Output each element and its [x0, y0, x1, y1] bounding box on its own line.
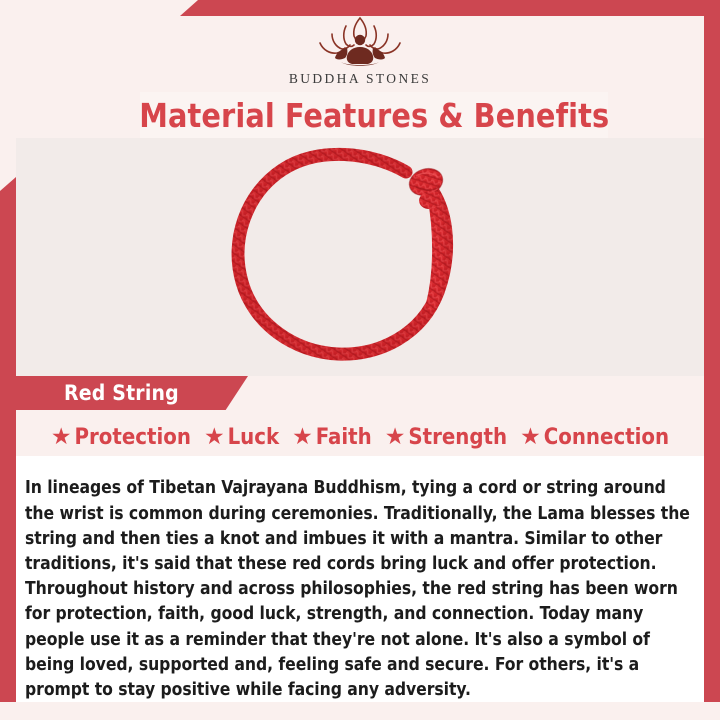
benefit-label: Protection — [75, 425, 191, 450]
product-label-banner: Red String — [0, 376, 248, 410]
left-red-accent-bar — [0, 177, 16, 720]
infographic-page: BUDDHA STONES Material Features & Benefi… — [0, 0, 720, 720]
star-icon: ★ — [51, 425, 72, 448]
benefit-item: ★ Protection — [51, 425, 191, 450]
red-string-bracelet-image — [220, 142, 500, 372]
benefits-list: ★ Protection ★ Luck ★ Faith ★ Strength ★… — [16, 418, 704, 456]
page-title: Material Features & Benefits — [139, 96, 609, 135]
benefit-label: Luck — [228, 425, 280, 450]
benefit-item: ★ Strength — [385, 425, 507, 450]
benefit-label: Connection — [544, 425, 669, 450]
product-label: Red String — [64, 381, 179, 405]
product-image-area — [16, 138, 704, 376]
description-text: In lineages of Tibetan Vajrayana Buddhis… — [25, 476, 697, 703]
benefit-item: ★ Faith — [292, 425, 372, 450]
description-panel: In lineages of Tibetan Vajrayana Buddhis… — [16, 456, 704, 702]
bottom-cream-strip — [0, 702, 720, 720]
star-icon: ★ — [385, 425, 406, 448]
brand-logo: BUDDHA STONES — [0, 14, 720, 87]
brand-name: BUDDHA STONES — [0, 71, 720, 87]
right-red-accent-bar — [704, 16, 720, 720]
brand-header: BUDDHA STONES — [0, 0, 720, 92]
star-icon: ★ — [520, 425, 541, 448]
benefit-label: Faith — [316, 425, 372, 450]
benefit-label: Strength — [408, 425, 507, 450]
product-label-strip: Red String — [0, 376, 720, 410]
title-banner: Material Features & Benefits — [140, 92, 608, 138]
star-icon: ★ — [292, 425, 313, 448]
lotus-meditation-icon — [301, 14, 419, 70]
star-icon: ★ — [204, 425, 225, 448]
benefit-item: ★ Connection — [520, 425, 669, 450]
benefit-item: ★ Luck — [204, 425, 279, 450]
